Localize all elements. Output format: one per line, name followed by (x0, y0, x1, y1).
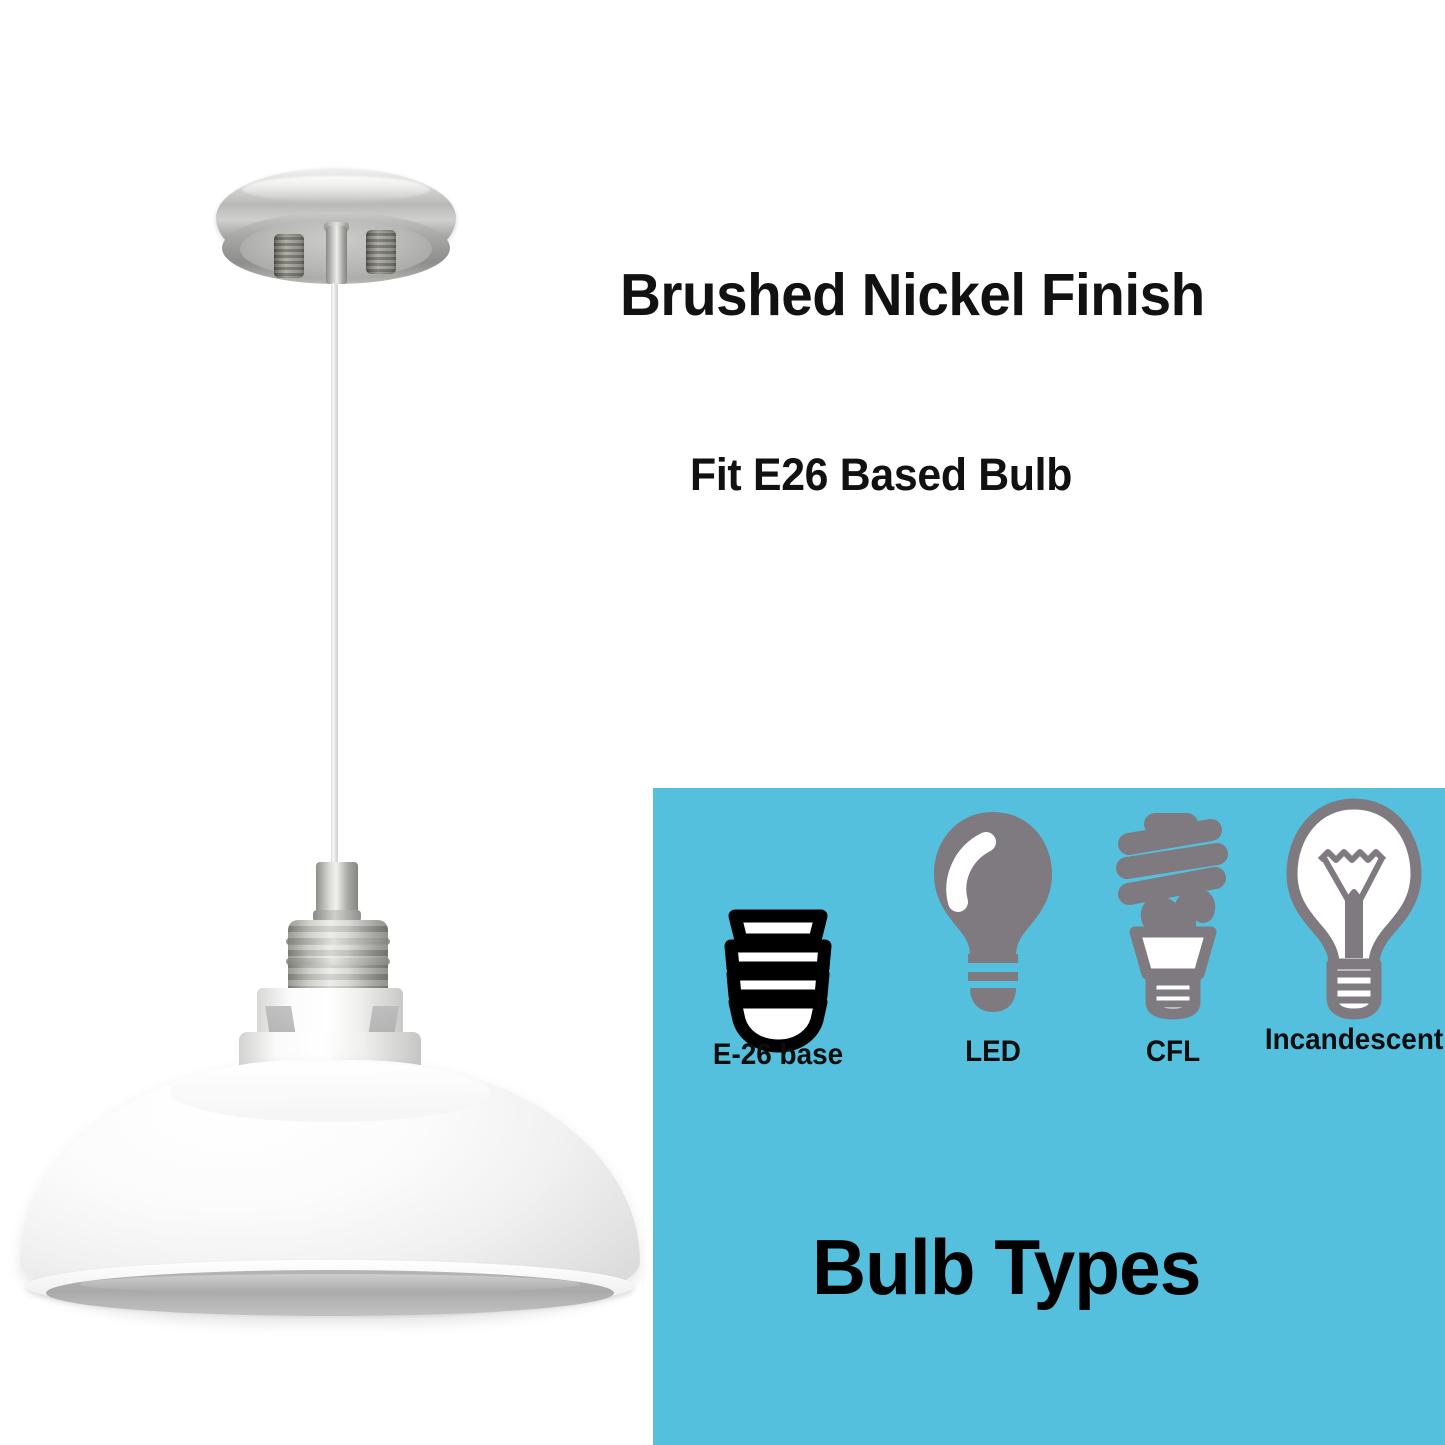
heading-fit-e26-based-bulb: Fit E26 Based Bulb (690, 452, 1072, 497)
bulb-type-item-incandescent: Incandescent (1263, 788, 1445, 1088)
socket-cord-grip (316, 862, 358, 914)
bulb-type-label: Incandescent (1265, 1025, 1443, 1055)
cfl-bulb-icon (1107, 802, 1239, 1022)
canopy-stem (326, 226, 347, 284)
bulb-types-row: E-26 base LED (653, 788, 1445, 1088)
bulb-type-item-e26-base: E-26 base (653, 788, 903, 1088)
canopy-screw-left (274, 234, 304, 278)
socket-ring (286, 958, 390, 965)
led-bulb-icon (928, 806, 1058, 1021)
canopy-screw-right (366, 230, 396, 274)
incandescent-bulb-icon (1284, 796, 1424, 1024)
lamp-socket (283, 862, 393, 1002)
bulb-type-label: E-26 base (713, 1040, 843, 1070)
bulb-type-label: CFL (1146, 1037, 1200, 1067)
bulb-type-item-led: LED (903, 788, 1083, 1088)
infographic-canvas: Brushed Nickel Finish Fit E26 Based Bulb (0, 0, 1445, 1445)
socket-ring (286, 938, 390, 945)
bulb-types-title: Bulb Types (812, 1228, 1200, 1306)
heading-brushed-nickel-finish: Brushed Nickel Finish (620, 266, 1205, 325)
hanging-cord (331, 283, 338, 883)
bulb-types-panel: E-26 base LED (653, 788, 1445, 1445)
shade-shoulder-highlight (170, 1062, 490, 1122)
e26-base-icon (719, 906, 837, 1056)
shade-interior-highlight (80, 1274, 580, 1294)
bulb-type-item-cfl: CFL (1083, 788, 1263, 1088)
pendant-light-product (0, 0, 660, 1400)
white-dome-shade (20, 988, 640, 1350)
canopy-gloss-highlight (242, 176, 430, 202)
ceiling-canopy (216, 168, 456, 293)
bulb-type-label: LED (965, 1037, 1021, 1067)
